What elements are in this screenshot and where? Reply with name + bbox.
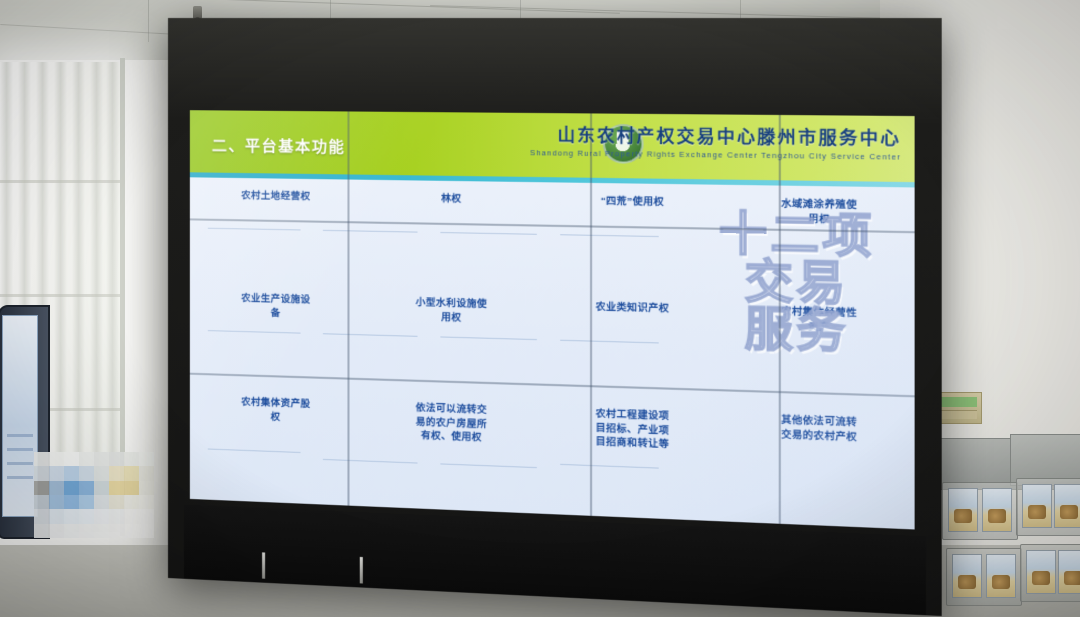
kiosk-screen[interactable]	[2, 315, 38, 517]
cell-text: “四荒”使用权	[601, 193, 664, 208]
organization-name-cn: 山东农村产权交易中心滕州市服务中心	[530, 121, 901, 150]
cell-text: 农村土地经营权	[241, 188, 310, 203]
table-cell: 农业生产设施设备	[190, 290, 363, 322]
cell-text: 小型水利设施使用权	[413, 295, 490, 325]
brochure[interactable]	[952, 554, 982, 598]
cell-text: 林权	[441, 191, 461, 205]
cell-text: 其他依法可流转交易的农村产权	[778, 412, 860, 444]
table-cell: 农村集体资产股权	[190, 393, 363, 440]
table-row: 农村集体资产股权 依法可以流转交易的农户房屋所有权、使用权 农村工程建设项目招标…	[190, 393, 915, 460]
table-cell: 林权	[363, 190, 541, 221]
watermark-line-2: 交易	[698, 259, 897, 311]
cell-text: 农业生产设施设备	[238, 291, 313, 320]
table-cell: 其他依法可流转交易的农村产权	[725, 410, 915, 460]
cell-text: 农村集体资产股权	[238, 394, 313, 424]
pixelated-privacy-blur	[34, 452, 154, 538]
watermark-text: 十二项 交易 服务	[698, 212, 897, 358]
led-video-wall[interactable]: 二、平台基本功能 山东农村产权交易中心滕州市服务中心 Shandong Rura…	[168, 18, 942, 616]
brochure[interactable]	[986, 554, 1016, 598]
organization-name-en: Shandong Rural Property Rights Exchange …	[530, 148, 901, 162]
table-cell: 依法可以流转交易的农户房屋所有权、使用权	[363, 398, 541, 446]
table-cell: 农村土地经营权	[190, 187, 363, 217]
organization-name-block: 山东农村产权交易中心滕州市服务中心 Shandong Rural Propert…	[530, 121, 901, 162]
panel-seam-vertical	[590, 113, 592, 515]
brochure[interactable]	[982, 488, 1012, 532]
brochure[interactable]	[1022, 484, 1052, 528]
slide-section-title: 二、平台基本功能	[212, 134, 346, 157]
cabinet-handle[interactable]	[262, 552, 265, 578]
watermark-line-3: 服务	[698, 306, 897, 359]
table-cell: 小型水利设施使用权	[363, 294, 541, 326]
brochure[interactable]	[1026, 550, 1056, 594]
office-scene-photo: 二、平台基本功能 山东农村产权交易中心滕州市服务中心 Shandong Rura…	[0, 0, 1080, 617]
cell-text: 农村工程建设项目招标、产业项目招商和转让等	[593, 406, 673, 451]
video-wall-screen[interactable]: 二、平台基本功能 山东农村产权交易中心滕州市服务中心 Shandong Rura…	[190, 110, 915, 529]
brochure-rack[interactable]	[940, 438, 1080, 617]
panel-seam-vertical	[779, 115, 781, 524]
table-cell: 农村工程建设项目招标、产业项目招商和转让等	[541, 404, 725, 453]
brochure[interactable]	[1058, 550, 1080, 594]
slide-header-bar: 二、平台基本功能 山东农村产权交易中心滕州市服务中心 Shandong Rura…	[190, 110, 915, 182]
brochure[interactable]	[1054, 484, 1080, 528]
cell-text: 农业类知识产权	[596, 299, 670, 315]
watermark-line-1: 十二项	[698, 212, 897, 263]
brochure[interactable]	[948, 488, 978, 532]
cell-text: 依法可以流转交易的农户房屋所有权、使用权	[413, 400, 490, 445]
cabinet-handle[interactable]	[360, 557, 363, 584]
panel-seam-vertical	[347, 111, 349, 505]
